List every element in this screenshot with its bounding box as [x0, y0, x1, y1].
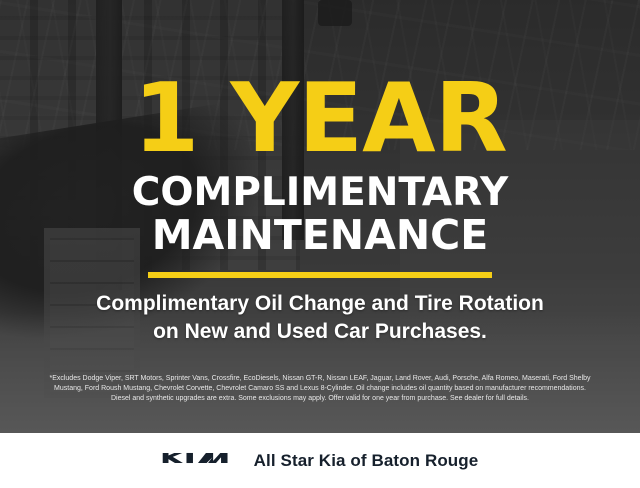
headline-block: 1 YEAR COMPLIMENTARY MAINTENANCE	[0, 0, 640, 278]
kia-logo-svg	[162, 447, 234, 469]
yellow-divider-bar	[148, 272, 492, 278]
subheading-line-2: on New and Used Car Purchases.	[0, 318, 640, 346]
disclaimer-line-2: Mustang, Ford Roush Mustang, Chevrolet C…	[12, 384, 628, 394]
footer-content: All Star Kia of Baton Rouge	[162, 447, 479, 474]
promo-banner: 1 YEAR COMPLIMENTARY MAINTENANCE Complim…	[0, 0, 640, 488]
disclaimer-block: *Excludes Dodge Viper, SRT Motors, Sprin…	[12, 374, 628, 404]
disclaimer-line-3: Diesel and synthetic upgrades are extra.…	[12, 394, 628, 404]
kia-logo-icon	[162, 447, 234, 474]
dealer-name: All Star Kia of Baton Rouge	[254, 451, 479, 471]
hero-photo-area: 1 YEAR COMPLIMENTARY MAINTENANCE Complim…	[0, 0, 640, 433]
headline-year: 1 YEAR	[0, 0, 640, 163]
subheading-block: Complimentary Oil Change and Tire Rotati…	[0, 290, 640, 346]
disclaimer-line-1: *Excludes Dodge Viper, SRT Motors, Sprin…	[12, 374, 628, 384]
subheading-line-1: Complimentary Oil Change and Tire Rotati…	[0, 290, 640, 318]
footer-bar: All Star Kia of Baton Rouge	[0, 433, 640, 488]
headline-maintenance: MAINTENANCE	[0, 212, 640, 256]
headline-complimentary: COMPLIMENTARY	[0, 163, 640, 212]
